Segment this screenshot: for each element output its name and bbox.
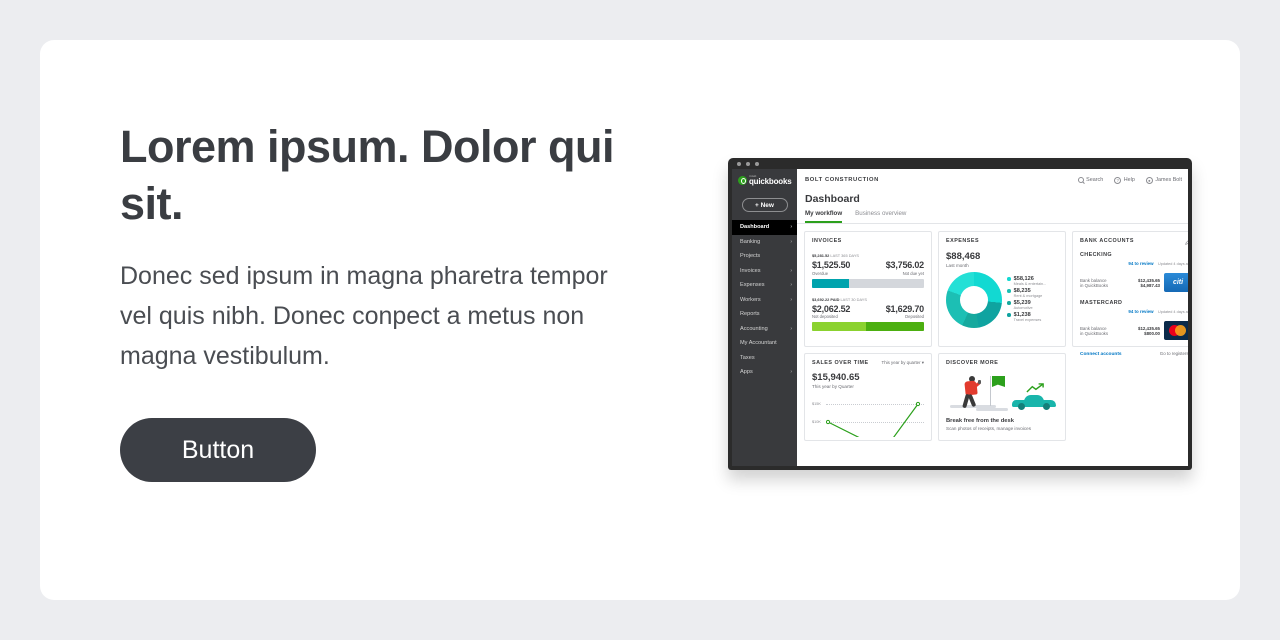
expenses-period: Last month [946, 263, 1058, 268]
sidebar-item-label: Apps [740, 369, 753, 375]
main-content: BOLT CONSTRUCTION Search ? Help [797, 169, 1188, 466]
invoices-paid-summary: $3,692.22 PAID LAST 30 DAYS [812, 297, 924, 302]
bank-account-status: 94 to review Updated 4 days ago [1128, 252, 1188, 270]
sidebar-item-workers[interactable]: Workers › [732, 293, 797, 308]
sidebar-item-label: Banking [740, 239, 760, 245]
invoices-notdue-amount: $3,756.02 [886, 260, 924, 270]
expenses-donut-chart [946, 272, 1002, 328]
invoices-notdeposited-amount: $2,062.52 [812, 304, 850, 314]
qb-balance-row: in QuickBooks $4,987.43 [1080, 283, 1160, 288]
invoices-paid-bar [812, 322, 924, 331]
invoices-paid-total: $3,692.22 [812, 297, 829, 302]
y-tick-label: $15K [812, 402, 821, 406]
car-wheel [1018, 403, 1025, 410]
invoices-unpaid-total: $5,281.52 [812, 253, 829, 258]
cta-button[interactable]: Button [120, 418, 316, 482]
bank-card-footer: Connect accounts Go to registers ▾ [1080, 346, 1188, 357]
invoices-unpaid-period: LAST 365 DAYS [830, 253, 859, 258]
chevron-right-icon: › [790, 268, 792, 274]
bank-review-link[interactable]: 94 to review [1128, 309, 1153, 314]
sidebar-item-label: Dashboard [740, 224, 769, 230]
expenses-card: EXPENSES $88,468 Last month [938, 231, 1066, 347]
connect-accounts-link[interactable]: Connect accounts [1080, 352, 1122, 357]
invoices-unpaid-row: $1,525.50 Overdue $3,756.02 Not due yet [812, 260, 924, 276]
mastercard-right-circle [1175, 325, 1186, 336]
expenses-legend: $58,126 Meals & entertain... $8,235 [1007, 276, 1046, 324]
discover-card-title: DISCOVER MORE [946, 360, 1058, 366]
hero-body-text: Donec sed ipsum in magna pharetra tempor… [120, 256, 620, 376]
invoices-overdue-label: Overdue [812, 271, 850, 276]
qb-balance-row: in QuickBooks $800.00 [1080, 331, 1160, 336]
invoices-paid-period: LAST 30 DAYS [841, 297, 867, 302]
hero-card: Lorem ipsum. Dolor qui sit. Donec sed ip… [40, 40, 1240, 600]
search-button[interactable]: Search [1078, 177, 1104, 183]
avatar-icon: ● [1146, 177, 1153, 184]
bank-updated-label: Updated 4 days ago [1158, 310, 1188, 314]
legend-label: Automotive [1014, 306, 1047, 310]
tab-bar: My workflow Business overview [797, 210, 1188, 224]
chevron-right-icon: › [790, 369, 792, 375]
minimize-icon[interactable] [746, 162, 750, 166]
sidebar-item-label: Accounting [740, 326, 768, 332]
sidebar-item-banking[interactable]: Banking › [732, 235, 797, 250]
maximize-icon[interactable] [755, 162, 759, 166]
invoices-notdeposited-label: Not deposited [812, 314, 850, 319]
sales-over-time-card: SALES OVER TIME This year by quarter ▾ $… [804, 353, 932, 441]
invoices-card: INVOICES $5,281.52 LAST 365 DAYS $1,525.… [804, 231, 932, 347]
account-label: James Bolt [1155, 177, 1182, 183]
sidebar-item-label: Expenses [740, 282, 765, 288]
window-controls[interactable] [737, 162, 759, 166]
page-title: Lorem ipsum. Dolor qui sit. [120, 118, 620, 232]
legend-swatch-icon [1007, 313, 1011, 317]
bank-review-link[interactable]: 94 to review [1128, 261, 1153, 266]
person-icon [962, 376, 982, 410]
legend-item: $58,126 Meals & entertain... [1007, 276, 1046, 286]
invoices-overdue: $1,525.50 Overdue [812, 260, 850, 276]
invoices-overdue-amount: $1,525.50 [812, 260, 850, 270]
grid-column-1: INVOICES $5,281.52 LAST 365 DAYS $1,525.… [804, 231, 932, 441]
invoices-deposited-bar-segment [866, 322, 924, 331]
qb-balance-value: $4,987.43 [1140, 283, 1160, 288]
search-icon [1078, 177, 1084, 183]
legend-swatch-icon [1007, 301, 1011, 305]
sidebar-item-label: My Accountant [740, 340, 777, 346]
dashboard-title: Dashboard [797, 191, 1188, 210]
invoices-unpaid-bar [812, 279, 924, 288]
chevron-right-icon: › [790, 224, 792, 230]
sidebar-item-reports[interactable]: Reports [732, 307, 797, 322]
bank-updated-label: Updated 4 days ago [1158, 262, 1188, 266]
new-button[interactable]: + New [742, 198, 788, 212]
sales-card-title: SALES OVER TIME [812, 360, 869, 366]
go-to-registers-link[interactable]: Go to registers ▾ [1160, 351, 1188, 357]
invoices-unpaid-summary: $5,281.52 LAST 365 DAYS [812, 253, 924, 258]
sidebar-item-dashboard[interactable]: Dashboard › [732, 220, 797, 235]
bank-card-title: BANK ACCOUNTS [1080, 238, 1188, 244]
flag-icon [992, 376, 1005, 387]
legend-swatch-icon [1007, 277, 1011, 281]
sidebar-item-label: Invoices [740, 268, 761, 274]
logo-text: intuit quickbooks [749, 175, 791, 186]
dashboard-grid: INVOICES $5,281.52 LAST 365 DAYS $1,525.… [797, 224, 1188, 441]
growth-arrow-icon [1026, 383, 1044, 393]
hero-text-column: Lorem ipsum. Dolor qui sit. Donec sed ip… [120, 118, 620, 482]
legend-item: $8,235 Rent & mortgage [1007, 288, 1046, 298]
person-leg [968, 394, 977, 408]
legend-swatch-icon [1007, 289, 1011, 293]
discover-more-card: DISCOVER MORE [938, 353, 1066, 441]
sidebar-item-expenses[interactable]: Expenses › [732, 278, 797, 293]
bank-account-balances: Bank balance $12,435.65 in QuickBooks $4… [1080, 273, 1188, 292]
invoices-deposited-label: Deposited [886, 314, 924, 319]
expenses-chart-area: $58,126 Meals & entertain... $8,235 [946, 272, 1058, 328]
quickbooks-logo[interactable]: intuit quickbooks [732, 169, 797, 191]
invoices-notdue-label: Not due yet [886, 271, 924, 276]
account-menu[interactable]: ● James Bolt [1146, 177, 1182, 184]
browser-mockup: intuit quickbooks + New Dashboard › Bank… [728, 158, 1192, 470]
chevron-right-icon: › [790, 326, 792, 332]
qb-balance-value: $800.00 [1144, 331, 1160, 336]
y-tick-label: $10K [812, 420, 821, 424]
bank-account-status: 94 to review Updated 4 days ago [1128, 300, 1188, 318]
sales-total-amount: $15,940.65 [812, 372, 924, 383]
sidebar-item-taxes[interactable]: Taxes [732, 351, 797, 366]
invoices-card-title: INVOICES [812, 238, 924, 244]
bank-account-header: MASTERCARD 94 to review Updated 4 days a… [1080, 300, 1188, 318]
tab-business-overview[interactable]: Business overview [855, 210, 906, 223]
invoices-paid-word: PAID [830, 297, 839, 302]
legend-item: $5,239 Automotive [1007, 300, 1046, 310]
search-label: Search [1086, 177, 1103, 183]
bank-accounts-card: BANK ACCOUNTS CHECKING 94 to review Upda… [1072, 231, 1188, 347]
car-icon [1012, 395, 1056, 410]
page-root: Lorem ipsum. Dolor qui sit. Donec sed ip… [0, 0, 1280, 640]
quickbooks-app: intuit quickbooks + New Dashboard › Bank… [732, 169, 1188, 466]
citi-card-icon: citi [1164, 273, 1188, 292]
discover-text: Scan photos of receipts, manage invoices [946, 426, 1058, 432]
invoices-notdeposited: $2,062.52 Not deposited [812, 304, 850, 320]
tab-my-workflow[interactable]: My workflow [805, 210, 842, 223]
discover-illustration [946, 370, 1058, 416]
invoices-deposited-amount: $1,629.70 [886, 304, 924, 314]
invoices-deposited: $1,629.70 Deposited [886, 304, 924, 320]
topbar-actions: Search ? Help ● James Bolt [1078, 176, 1188, 185]
quickbooks-label: quickbooks [749, 178, 791, 186]
bank-balance-lines: Bank balance $12,435.65 in QuickBooks $8… [1080, 326, 1160, 336]
mastercard-icon [1164, 321, 1188, 340]
expenses-card-title: EXPENSES [946, 238, 1058, 244]
expenses-total: $88,468 [946, 251, 1058, 262]
sidebar-item-invoices[interactable]: Invoices › [732, 264, 797, 279]
invoices-notdeposited-bar-segment [812, 322, 866, 331]
bank-account-header: CHECKING 94 to review Updated 4 days ago [1080, 252, 1188, 270]
company-name: BOLT CONSTRUCTION [805, 177, 879, 183]
bank-account-balances: Bank balance $12,435.65 in QuickBooks $8… [1080, 321, 1188, 340]
sales-card-header: SALES OVER TIME This year by quarter ▾ [812, 360, 924, 366]
grid-column-2: EXPENSES $88,468 Last month [938, 231, 1066, 441]
sidebar: intuit quickbooks + New Dashboard › Bank… [732, 169, 797, 466]
sidebar-item-my-accountant[interactable]: My Accountant [732, 336, 797, 351]
phone-icon [978, 380, 981, 384]
sidebar-item-accounting[interactable]: Accounting › [732, 322, 797, 337]
help-button[interactable]: ? Help [1114, 177, 1135, 184]
sidebar-item-apps[interactable]: Apps › [732, 365, 797, 380]
flag-pole-icon [990, 376, 991, 406]
sales-period-select[interactable]: This year by quarter ▾ [882, 360, 924, 366]
close-icon[interactable] [737, 162, 741, 166]
qb-balance-label: in QuickBooks [1080, 331, 1108, 336]
bank-account-name: MASTERCARD [1080, 300, 1122, 306]
help-icon: ? [1114, 177, 1121, 184]
help-label: Help [1124, 177, 1135, 183]
topbar: BOLT CONSTRUCTION Search ? Help [797, 169, 1188, 191]
sidebar-item-label: Projects [740, 253, 760, 259]
invoices-notdue: $3,756.02 Not due yet [886, 260, 924, 276]
sales-line-chart: $15K $10K [812, 395, 924, 435]
sidebar-item-label: Reports [740, 311, 760, 317]
chevron-right-icon: › [790, 282, 792, 288]
legend-item: $1,238 Travel expenses [1007, 312, 1046, 322]
sidebar-item-label: Workers [740, 297, 761, 303]
sales-period-label: This year by Quarter [812, 384, 924, 389]
chevron-right-icon: › [790, 239, 792, 245]
chevron-right-icon: › [790, 297, 792, 303]
bank-balance-lines: Bank balance $12,435.65 in QuickBooks $4… [1080, 278, 1160, 288]
invoices-paid-row: $2,062.52 Not deposited $1,629.70 Deposi… [812, 304, 924, 320]
legend-label: Meals & entertain... [1014, 282, 1047, 286]
sales-chart-svg [826, 395, 926, 437]
legend-label: Rent & mortgage [1014, 294, 1047, 298]
discover-heading: Break free from the desk [946, 418, 1058, 424]
car-wheel [1043, 403, 1050, 410]
grid-column-3: BANK ACCOUNTS CHECKING 94 to review Upda… [1072, 231, 1188, 441]
intuit-mark-icon [738, 176, 747, 185]
invoices-overdue-bar-segment [812, 279, 849, 288]
bank-account-name: CHECKING [1080, 252, 1112, 258]
pencil-icon[interactable] [1185, 238, 1188, 245]
qb-balance-label: in QuickBooks [1080, 283, 1108, 288]
sidebar-item-projects[interactable]: Projects [732, 249, 797, 264]
sidebar-item-label: Taxes [740, 355, 755, 361]
legend-label: Travel expenses [1014, 318, 1047, 322]
